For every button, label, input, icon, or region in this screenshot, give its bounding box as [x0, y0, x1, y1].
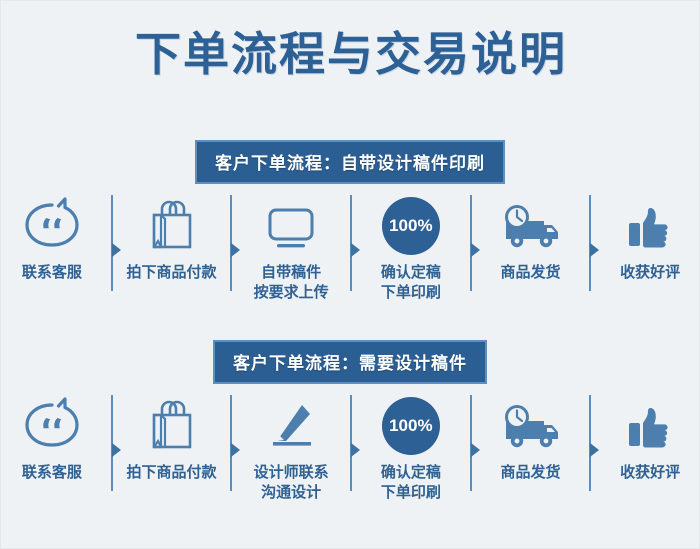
shopping-bag-icon: [140, 393, 202, 459]
flow-separator: [581, 393, 599, 491]
flow-step-label: 联系客服: [22, 463, 82, 483]
flow-separator: [342, 193, 360, 291]
flow-step-pay-order[interactable]: 拍下商品付款: [121, 393, 223, 483]
arrow-right-icon: [590, 243, 599, 257]
thumbs-up-icon: [619, 193, 681, 259]
order-flow-page: 下单流程与交易说明 客户下单流程：自带设计稿件印刷 联系客服: [0, 0, 700, 549]
page-title: 下单流程与交易说明: [1, 31, 700, 77]
thumbs-up-icon: [619, 393, 681, 459]
flow-step-label: 商品发货: [501, 463, 561, 483]
flow-row-2: 联系客服 拍下商品付款: [1, 393, 700, 508]
percent-badge: 100%: [382, 397, 440, 455]
flow-step-label: 拍下商品付款: [126, 463, 216, 483]
monitor-icon: [260, 193, 322, 259]
arrow-right-icon: [112, 443, 121, 457]
flow-step-label: 设计师联系 沟通设计: [254, 463, 329, 504]
shopping-bag-icon: [140, 193, 202, 259]
section-banner-1: 客户下单流程：自带设计稿件印刷: [195, 140, 505, 184]
flow-separator: [103, 193, 121, 291]
flow-separator: [342, 393, 360, 491]
flow-separator: [581, 193, 599, 291]
flow-step-shipping[interactable]: 商品发货: [480, 393, 582, 483]
speech-bubble-icon: [21, 393, 83, 459]
delivery-truck-icon: [498, 393, 564, 459]
flow-step-label: 联系客服: [22, 263, 82, 283]
percent-circle-icon: 100%: [382, 393, 440, 459]
flow-step-label: 收获好评: [620, 463, 680, 483]
arrow-right-icon: [231, 243, 240, 257]
flow-separator: [462, 393, 480, 491]
flow-step-contact-service[interactable]: 联系客服: [1, 393, 103, 483]
pen-design-icon: [260, 393, 322, 459]
flow-step-confirm-print[interactable]: 100% 确认定稿 下单印刷: [360, 393, 462, 504]
arrow-right-icon: [231, 443, 240, 457]
flow-step-label: 确认定稿 下单印刷: [381, 263, 441, 304]
flow-step-pay-order[interactable]: 拍下商品付款: [121, 193, 223, 283]
arrow-right-icon: [471, 243, 480, 257]
arrow-right-icon: [471, 443, 480, 457]
arrow-right-icon: [351, 243, 360, 257]
speech-bubble-icon: [21, 193, 83, 259]
percent-circle-icon: 100%: [382, 193, 440, 259]
flow-step-contact-service[interactable]: 联系客服: [1, 193, 103, 283]
flow-row-1: 联系客服 拍下商品付款: [1, 193, 700, 308]
flow-step-good-review[interactable]: 收获好评: [599, 393, 700, 483]
flow-step-label: 收获好评: [620, 263, 680, 283]
flow-step-upload-artwork[interactable]: 自带稿件 按要求上传: [240, 193, 342, 304]
flow-separator: [462, 193, 480, 291]
section-banner-2: 客户下单流程：需要设计稿件: [213, 340, 487, 384]
flow-separator: [222, 393, 240, 491]
flow-step-designer-contact[interactable]: 设计师联系 沟通设计: [240, 393, 342, 504]
arrow-right-icon: [351, 443, 360, 457]
flow-step-label: 商品发货: [501, 263, 561, 283]
delivery-truck-icon: [498, 193, 564, 259]
arrow-right-icon: [112, 243, 121, 257]
flow-separator: [103, 393, 121, 491]
arrow-right-icon: [590, 443, 599, 457]
flow-step-good-review[interactable]: 收获好评: [599, 193, 700, 283]
percent-badge: 100%: [382, 197, 440, 255]
flow-step-confirm-print[interactable]: 100% 确认定稿 下单印刷: [360, 193, 462, 304]
flow-step-label: 确认定稿 下单印刷: [381, 463, 441, 504]
flow-step-label: 拍下商品付款: [126, 263, 216, 283]
flow-step-shipping[interactable]: 商品发货: [480, 193, 582, 283]
flow-separator: [222, 193, 240, 291]
flow-step-label: 自带稿件 按要求上传: [254, 263, 329, 304]
